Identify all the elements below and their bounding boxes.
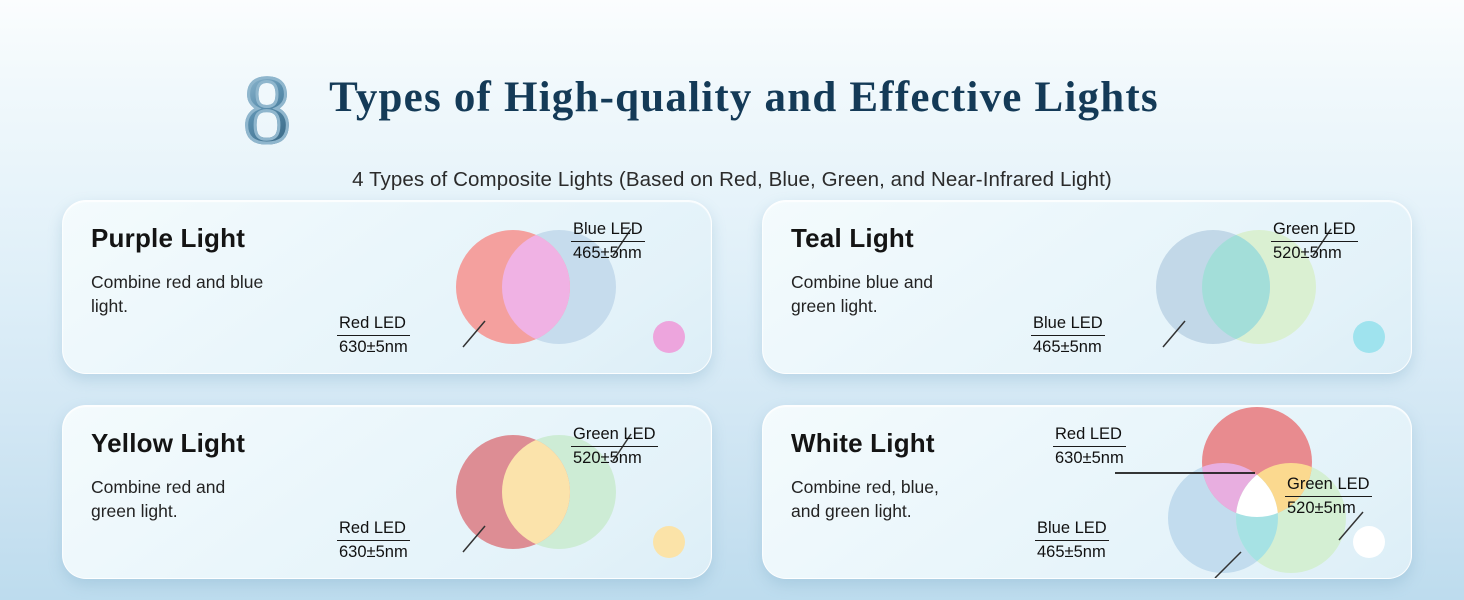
title-row: 8 Types of High-quality and Effective Li… [0, 76, 1464, 154]
card-description: Combine red, blue, and green light. [791, 476, 939, 523]
led-name: Green LED [571, 424, 658, 447]
led-wavelength: 520±5nm [1285, 497, 1372, 519]
led-name: Blue LED [1035, 518, 1109, 541]
led-wavelength: 465±5nm [1035, 541, 1109, 563]
red-led-label: Red LED 630±5nm [337, 313, 410, 357]
led-name: Green LED [1285, 474, 1372, 497]
led-name: Blue LED [571, 219, 645, 242]
card-teal-light[interactable]: Teal Light Combine blue and green light.… [762, 200, 1412, 374]
led-name: Red LED [1053, 424, 1126, 447]
card-title: Purple Light [91, 223, 245, 254]
led-wavelength: 465±5nm [1031, 336, 1105, 358]
led-wavelength: 520±5nm [571, 447, 658, 469]
led-wavelength: 630±5nm [1053, 447, 1126, 469]
card-title: Yellow Light [91, 428, 245, 459]
led-wavelength: 630±5nm [337, 336, 410, 358]
page-header: 8 Types of High-quality and Effective Li… [0, 0, 1464, 192]
card-yellow-light[interactable]: Yellow Light Combine red and green light… [62, 405, 712, 579]
venn-diagram-purple [363, 201, 711, 373]
blue-led-label: Blue LED 465±5nm [1031, 313, 1105, 357]
green-led-label: Green LED 520±5nm [571, 424, 658, 468]
page-subtitle: 4 Types of Composite Lights (Based on Re… [0, 168, 1464, 192]
card-title: Teal Light [791, 223, 914, 254]
red-led-label: Red LED 630±5nm [337, 518, 410, 562]
red-led-label: Red LED 630±5nm [1053, 424, 1126, 468]
led-name: Green LED [1271, 219, 1358, 242]
led-wavelength: 630±5nm [337, 541, 410, 563]
led-name: Red LED [337, 313, 410, 336]
led-wavelength: 520±5nm [1271, 242, 1358, 264]
card-white-light[interactable]: White Light Combine red, blue, and green… [762, 405, 1412, 579]
blue-led-label: Blue LED 465±5nm [571, 219, 645, 263]
card-description: Combine red and blue light. [91, 271, 263, 318]
blue-led-label: Blue LED 465±5nm [1035, 518, 1109, 562]
page-title: Types of High-quality and Effective Ligh… [0, 76, 1464, 119]
card-grid: Purple Light Combine red and blue light.… [62, 200, 1410, 580]
card-purple-light[interactable]: Purple Light Combine red and blue light.… [62, 200, 712, 374]
green-led-label: Green LED 520±5nm [1271, 219, 1358, 263]
led-wavelength: 465±5nm [571, 242, 645, 264]
venn-diagram-teal [1063, 201, 1411, 373]
card-description: Combine red and green light. [91, 476, 225, 523]
green-led-label: Green LED 520±5nm [1285, 474, 1372, 518]
card-description: Combine blue and green light. [791, 271, 933, 318]
count-numeral: 8 [243, 62, 291, 158]
led-name: Red LED [337, 518, 410, 541]
venn-diagram-yellow [363, 406, 711, 578]
led-name: Blue LED [1031, 313, 1105, 336]
card-title: White Light [791, 428, 935, 459]
